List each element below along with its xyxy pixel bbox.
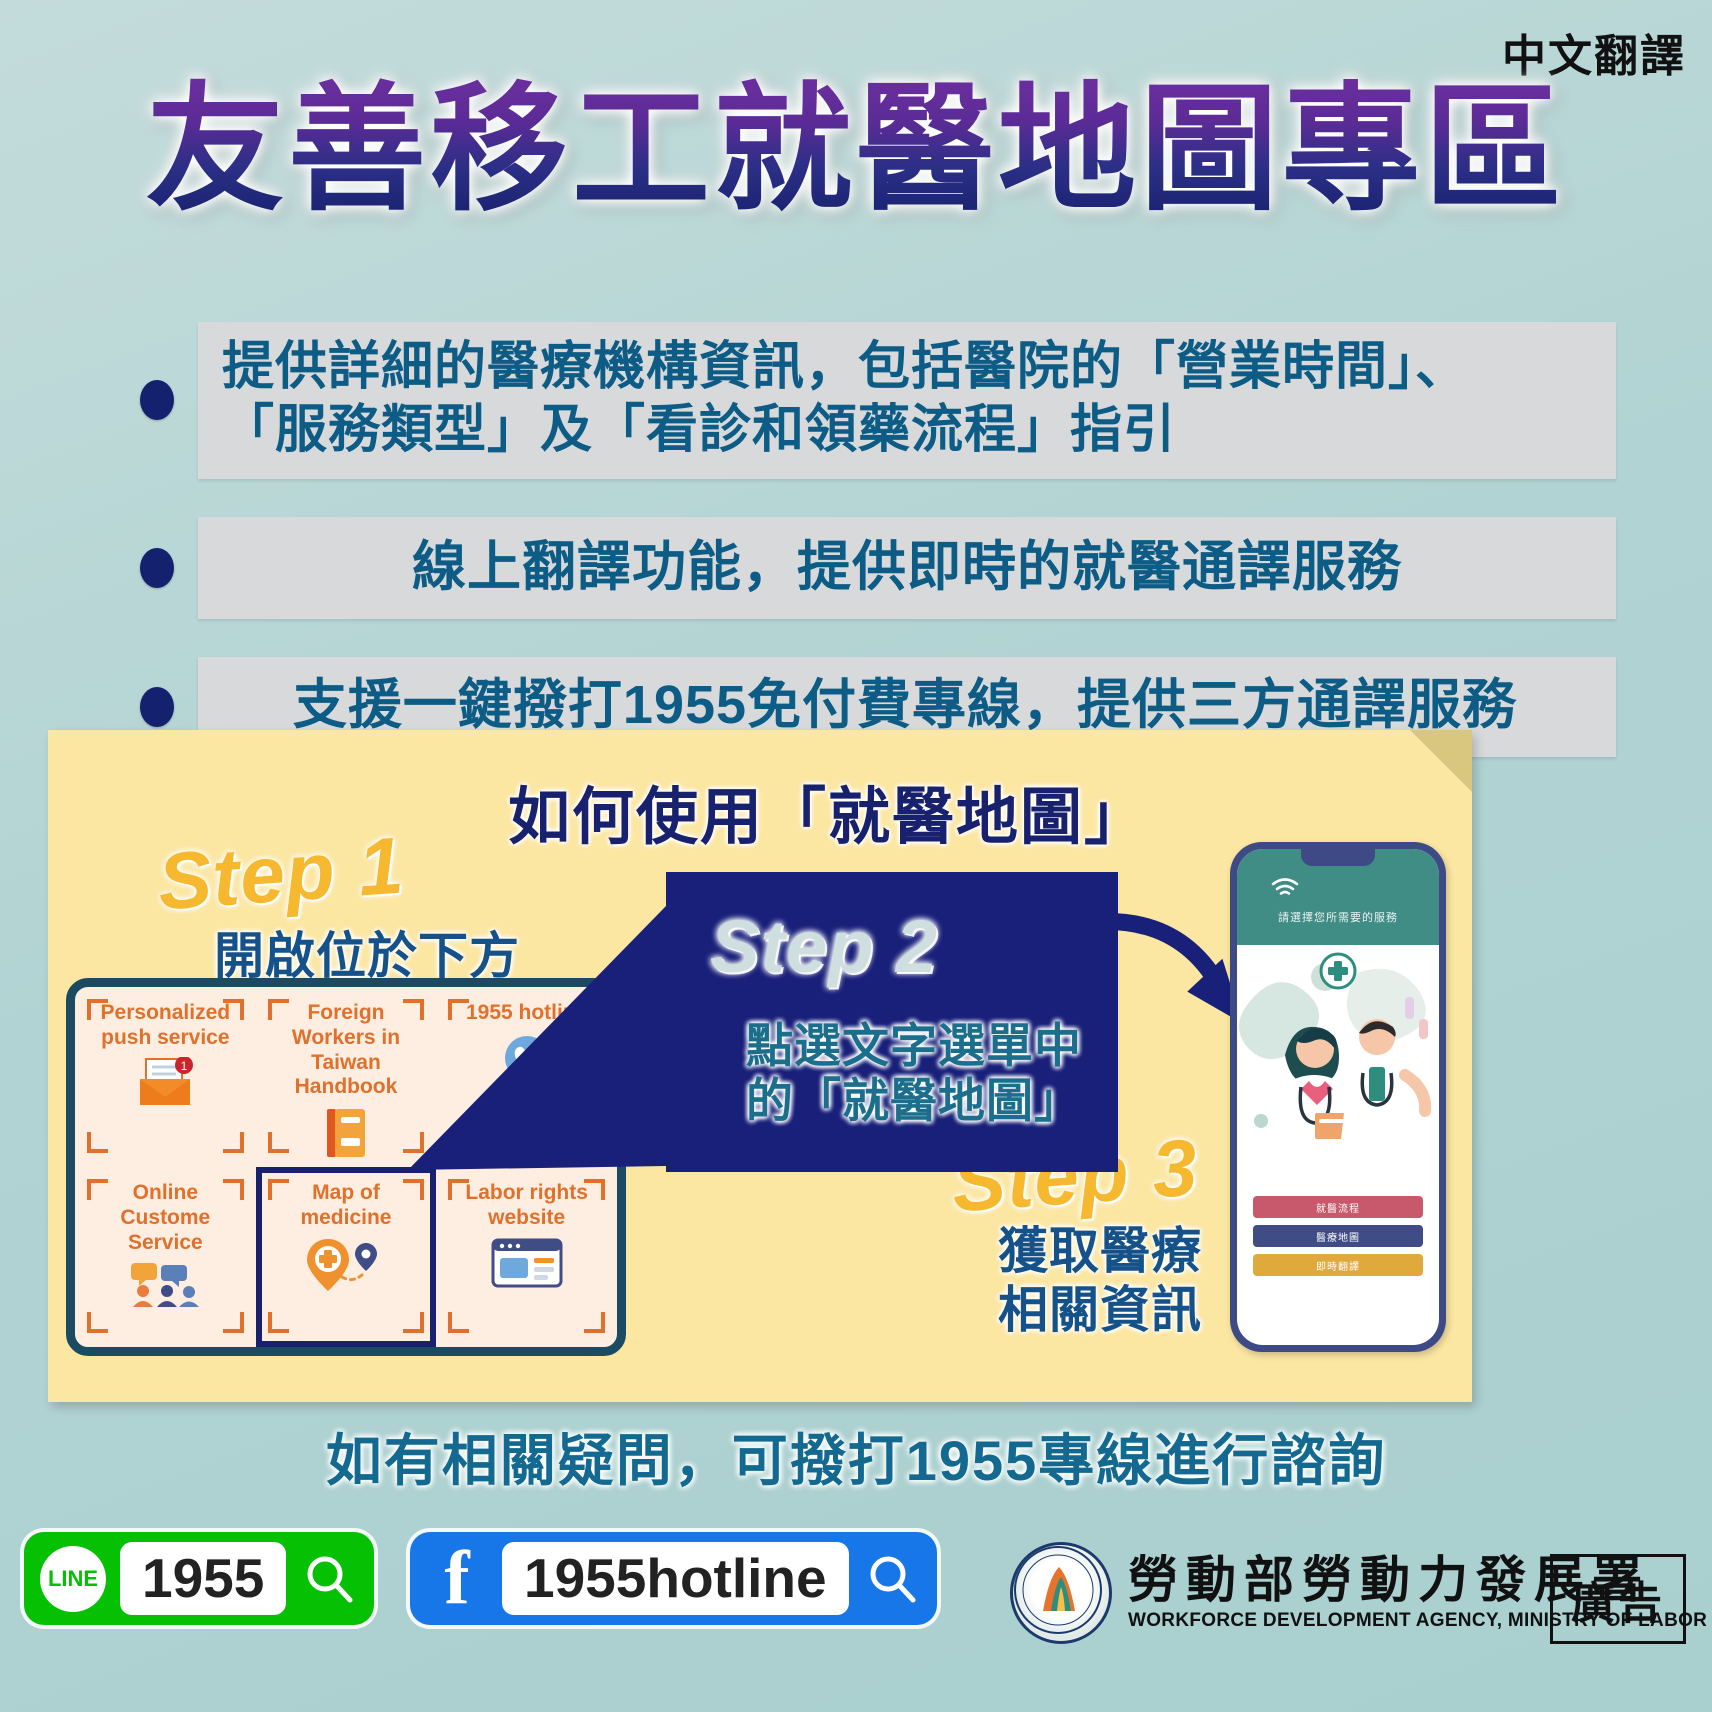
menu-cell-label: Map of medicine (271, 1181, 421, 1231)
corner-bracket-icon (268, 999, 289, 1020)
wifi-icon (1271, 877, 1299, 897)
menu-cell-handbook[interactable]: Foreign Workers in Taiwan Handbook (256, 987, 437, 1167)
corner-bracket-icon (87, 1132, 108, 1153)
bullet-dot-icon (140, 687, 174, 727)
corner-bracket-icon (223, 999, 244, 1020)
phone-illustration (1237, 945, 1439, 1167)
cross-badge-icon (1321, 954, 1355, 988)
menu-cell-online-customer-service[interactable]: Online Custome Service (75, 1167, 256, 1347)
line-rich-menu-card: Personalized push service 1 (66, 978, 626, 1356)
panel-title: 如何使用「就醫地圖」 (478, 766, 1178, 856)
corner-bracket-icon (223, 1132, 244, 1153)
corner-bracket-icon (403, 999, 424, 1020)
footer-note: 如有相關疑問，可撥打1955專線進行諮詢 (0, 1416, 1712, 1497)
corner-bracket-icon (448, 1132, 469, 1153)
agency-seal-logo (1010, 1542, 1112, 1644)
menu-cell-personalized-push[interactable]: Personalized push service 1 (75, 987, 256, 1167)
phone-button-live-translate[interactable]: 即時翻譯 (1253, 1254, 1423, 1276)
bullet-dot-icon (140, 548, 174, 588)
step-3-line-1: 獲取醫療 (998, 1222, 1202, 1281)
website-browser-icon (490, 1237, 564, 1294)
phone-app-header: 請選擇您所需要的服務 (1237, 849, 1439, 957)
line-badge[interactable]: LINE 1955 (24, 1532, 374, 1625)
bullet-line-1: 提供詳細的醫療機構資訊，包括醫院的「營業時間」、 (222, 336, 1596, 399)
bullet-item: 線上翻譯功能，提供即時的就醫通譯服務 (0, 517, 1712, 619)
bullet-text: 提供詳細的醫療機構資訊，包括醫院的「營業時間」、 「服務類型」及「看診和領藥流程… (198, 322, 1616, 479)
infographic-page: 中文翻譯 友善移工就醫地圖專區 提供詳細的醫療機構資訊，包括醫院的「營業時間」、… (0, 0, 1712, 1712)
menu-cell-map-of-medicine[interactable]: Map of medicine (256, 1167, 437, 1347)
step-1-label: Step 1 (155, 820, 407, 929)
svg-text:1: 1 (181, 1059, 188, 1073)
corner-bracket-icon (87, 1179, 108, 1200)
phone-button-medical-map[interactable]: 醫療地圖 (1253, 1225, 1423, 1247)
corner-bracket-icon (448, 999, 469, 1020)
menu-cell-labor-rights-website[interactable]: Labor rights website (436, 1167, 617, 1347)
line-account-id: 1955 (120, 1542, 286, 1615)
facebook-badge[interactable]: f 1955hotline (410, 1532, 937, 1625)
corner-bracket-icon (448, 1179, 469, 1200)
step-2-description: 點選文字選單中 的「就醫地圖」 (714, 1018, 1114, 1129)
menu-cell-1955-hotline[interactable]: 1955 hotline (436, 987, 617, 1167)
customer-service-icon (127, 1261, 203, 1312)
search-icon[interactable] (863, 1550, 921, 1608)
corner-bracket-icon (268, 1179, 289, 1200)
corner-bracket-icon (403, 1179, 424, 1200)
menu-cell-label: Labor rights website (452, 1181, 602, 1231)
corner-bracket-icon (223, 1179, 244, 1200)
step-2-label: Step 2 (710, 904, 938, 989)
corner-bracket-icon (268, 1312, 289, 1333)
menu-cell-label: Personalized push service (90, 1001, 240, 1051)
corner-bracket-icon (448, 1312, 469, 1333)
corner-bracket-icon (87, 1312, 108, 1333)
envelope-notification-icon: 1 (134, 1057, 196, 1114)
step-3-line-2: 相關資訊 (998, 1281, 1202, 1340)
phone-mockup: 請選擇您所需要的服務 (1230, 842, 1446, 1352)
menu-cell-label: Foreign Workers in Taiwan Handbook (271, 1001, 421, 1100)
medical-map-pin-icon (304, 1237, 388, 1298)
facebook-logo-icon: f (426, 1545, 488, 1613)
facebook-page-name: 1955hotline (502, 1542, 849, 1615)
corner-bracket-icon (584, 1179, 605, 1200)
step-1-line-1: 開啟位於下方 (214, 928, 520, 986)
bullet-line-2: 「服務類型」及「看診和領藥流程」指引 (222, 399, 1596, 462)
corner-bracket-icon (403, 1132, 424, 1153)
rich-menu-grid: Personalized push service 1 (75, 987, 617, 1347)
bullet-item: 提供詳細的醫療機構資訊，包括醫院的「營業時間」、 「服務類型」及「看診和領藥流程… (0, 322, 1712, 479)
corner-bracket-icon (584, 1312, 605, 1333)
step-2-line-1: 點選文字選單中 (714, 1018, 1114, 1073)
step-2-callout: Step 2 點選文字選單中 的「就醫地圖」 (666, 872, 1118, 1172)
phone-button-clinic-flow[interactable]: 就醫流程 (1253, 1196, 1423, 1218)
phone-header-text: 請選擇您所需要的服務 (1237, 909, 1439, 925)
corner-bracket-icon (223, 1312, 244, 1333)
step-3-description: 獲取醫療 相關資訊 (998, 1222, 1202, 1340)
line-logo-icon: LINE (40, 1546, 106, 1612)
footer-bar: LINE 1955 f 1955hotline (0, 1510, 1712, 1712)
corner-bracket-icon (403, 1312, 424, 1333)
phone-action-buttons: 就醫流程 醫療地圖 即時翻譯 (1237, 1196, 1439, 1283)
corner-bracket-icon (584, 999, 605, 1020)
corner-bracket-icon (268, 1132, 289, 1153)
step-2-line-2: 的「就醫地圖」 (714, 1073, 1114, 1128)
bullet-text: 線上翻譯功能，提供即時的就醫通譯服務 (198, 517, 1616, 619)
phone-hotline-icon (500, 1032, 554, 1089)
corner-bracket-icon (87, 999, 108, 1020)
handbook-icon (321, 1106, 371, 1165)
page-title: 友善移工就醫地圖專區 (0, 78, 1712, 223)
feature-bullet-list: 提供詳細的醫療機構資訊，包括醫院的「營業時間」、 「服務類型」及「看診和領藥流程… (0, 322, 1712, 795)
bullet-dot-icon (140, 380, 174, 420)
menu-cell-label: 1955 hotline (466, 1001, 587, 1026)
corner-bracket-icon (584, 1132, 605, 1153)
advertisement-label: 廣告 (1550, 1554, 1686, 1644)
menu-cell-label: Online Custome Service (90, 1181, 240, 1255)
phone-notch (1301, 849, 1375, 866)
how-to-use-panel: 如何使用「就醫地圖」 Step 1 開啟位於下方 的圖文選單 Personali… (48, 730, 1472, 1402)
phone-screen: 請選擇您所需要的服務 (1237, 849, 1439, 1345)
search-icon[interactable] (300, 1550, 358, 1608)
